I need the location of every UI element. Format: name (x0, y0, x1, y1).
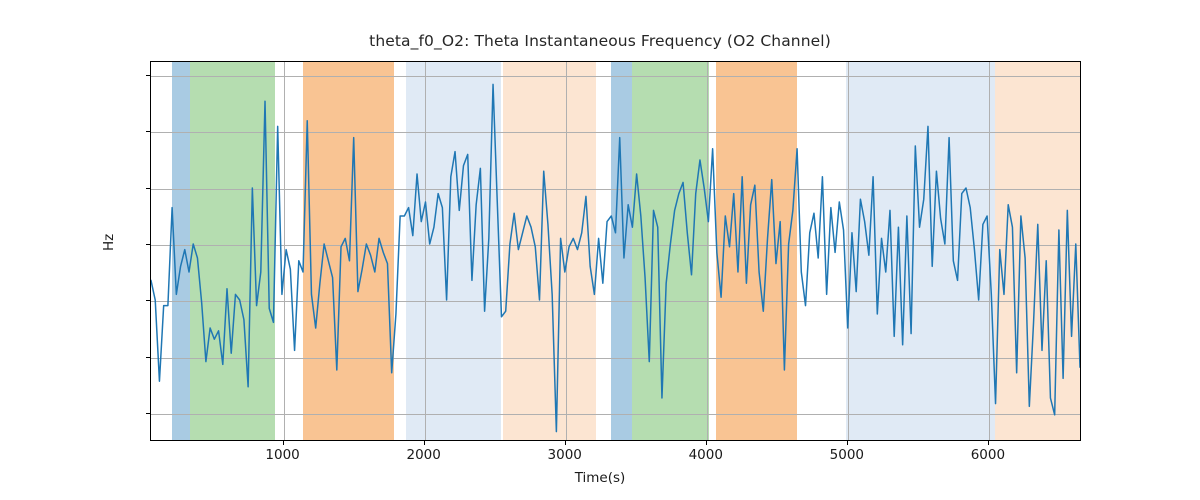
series-line-layer (151, 62, 1080, 440)
x-tick-label: 2000 (406, 447, 440, 463)
x-tick-mark (706, 441, 707, 445)
x-tick-label: 4000 (689, 447, 723, 463)
y-tick-mark (146, 188, 150, 189)
x-tick-mark (424, 441, 425, 445)
y-tick-mark (146, 75, 150, 76)
x-tick-label: 1000 (265, 447, 299, 463)
x-axis-label: Time(s) (0, 470, 1200, 486)
plot-area (150, 61, 1081, 441)
x-tick-mark (847, 441, 848, 445)
y-tick-mark (146, 357, 150, 358)
y-tick-mark (146, 131, 150, 132)
y-tick-mark (146, 300, 150, 301)
series-polyline (151, 84, 1080, 431)
y-tick-mark (146, 244, 150, 245)
x-tick-label: 5000 (830, 447, 864, 463)
figure-canvas: theta_f0_O2: Theta Instantaneous Frequen… (0, 0, 1200, 500)
x-tick-label: 6000 (971, 447, 1005, 463)
x-tick-mark (988, 441, 989, 445)
x-tick-mark (283, 441, 284, 445)
y-axis-label: Hz (101, 234, 117, 251)
y-tick-mark (146, 413, 150, 414)
chart-title: theta_f0_O2: Theta Instantaneous Frequen… (0, 32, 1200, 50)
x-tick-label: 3000 (548, 447, 582, 463)
x-tick-mark (565, 441, 566, 445)
